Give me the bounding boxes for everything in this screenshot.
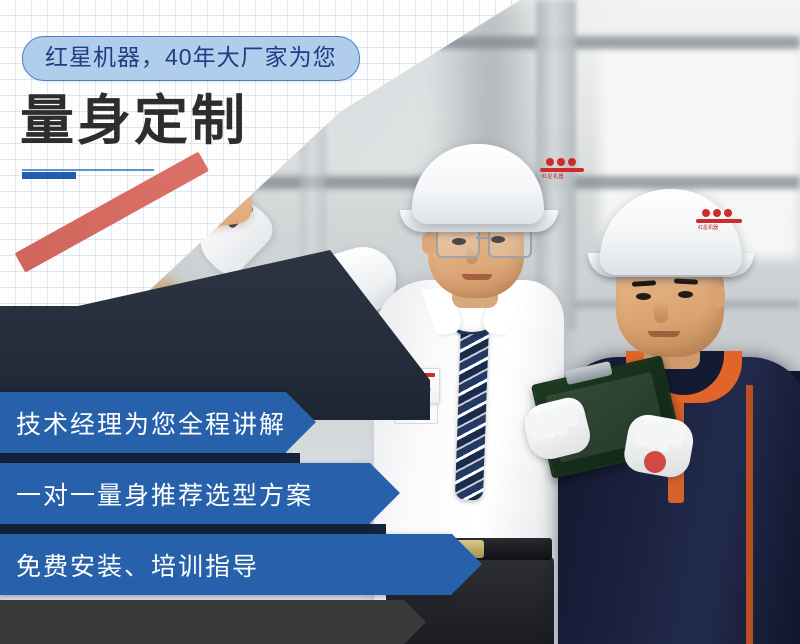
helmet-brand-logo: 红星机器	[540, 158, 584, 178]
chevron-tip-icon	[286, 392, 316, 452]
mouth	[462, 274, 492, 280]
white-hard-hat: 红星机器	[412, 144, 544, 224]
headline-title: 量身定制	[20, 94, 248, 148]
logo-text: 红星机器	[542, 173, 564, 180]
tagline-badge: 红星机器，40年大厂家为您	[22, 36, 360, 81]
orange-piping	[746, 385, 753, 644]
glove-logo	[644, 451, 666, 473]
logo-dots	[702, 209, 732, 217]
eye	[678, 291, 693, 298]
lens	[488, 228, 532, 258]
feature-banner-3-label: 免费安装、培训指导	[0, 547, 259, 583]
lens	[436, 228, 480, 258]
banner-gap-shadow	[0, 524, 386, 534]
bottom-dark-band	[0, 600, 404, 644]
logo-bar	[540, 168, 584, 172]
feature-banner-1: 技术经理为您全程讲解	[0, 392, 286, 453]
ear	[710, 285, 725, 309]
logo-bar	[696, 219, 742, 223]
logo-dots	[546, 158, 576, 166]
banner-gap-shadow	[0, 453, 300, 463]
eyeglasses	[434, 228, 534, 256]
promo-banner: 红星机器	[0, 0, 800, 644]
feature-banner-2: 一对一量身推荐选型方案	[0, 463, 370, 524]
eye	[636, 293, 651, 300]
white-hard-hat: 红星机器	[600, 189, 742, 275]
mouth	[648, 331, 680, 337]
helmet-brand-logo: 红星机器	[696, 209, 742, 231]
feature-banner-2-label: 一对一量身推荐选型方案	[0, 476, 313, 512]
worker-navy-coverall: 红星机器	[540, 185, 800, 644]
headline-rule-thick	[22, 172, 76, 179]
feature-banner-3: 免费安装、培训指导	[0, 534, 452, 595]
nose	[654, 301, 668, 323]
headline-rule-thin	[22, 169, 154, 171]
glasses-bridge	[476, 237, 492, 239]
chevron-tip-icon	[370, 463, 400, 523]
feature-banner-1-label: 技术经理为您全程讲解	[0, 405, 286, 441]
chevron-tip-icon	[452, 534, 482, 594]
logo-text: 红星机器	[698, 224, 718, 231]
